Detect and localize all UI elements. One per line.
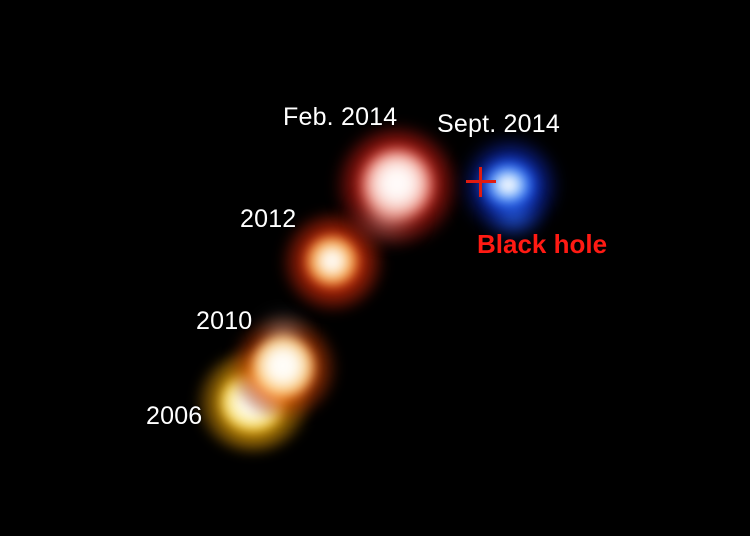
gas-cloud-blob-feb-2014-core xyxy=(362,150,432,220)
gas-cloud-blob-2012-halo xyxy=(283,213,383,311)
epoch-label-feb-2014: Feb. 2014 xyxy=(283,105,397,130)
gas-cloud-blob-2006-halo xyxy=(198,352,308,452)
epoch-label-2010: 2010 xyxy=(196,309,252,334)
epoch-label-2012: 2012 xyxy=(240,207,296,232)
cross-vertical-bar xyxy=(479,167,482,197)
gas-cloud-blob-sept-2014-halo xyxy=(443,132,563,244)
gas-cloud-blob-2012-core xyxy=(306,236,358,286)
astronomy-image-canvas: Feb. 2014 Sept. 2014 2012 2010 2006 Blac… xyxy=(0,0,750,536)
gas-cloud-blob-2010-plume xyxy=(258,312,308,346)
gas-cloud-blob-2006-core xyxy=(222,374,284,430)
epoch-label-sept-2014: Sept. 2014 xyxy=(437,112,560,137)
gas-cloud-blob-2010-core xyxy=(252,336,314,398)
epoch-label-2006: 2006 xyxy=(146,404,202,429)
black-hole-annotation-label: Black hole xyxy=(477,231,607,257)
black-hole-cross-icon xyxy=(466,167,496,197)
gas-cloud-blob-feb-2014-halo xyxy=(338,128,456,244)
gas-cloud-blob-feb-2014-smudge xyxy=(356,196,418,242)
